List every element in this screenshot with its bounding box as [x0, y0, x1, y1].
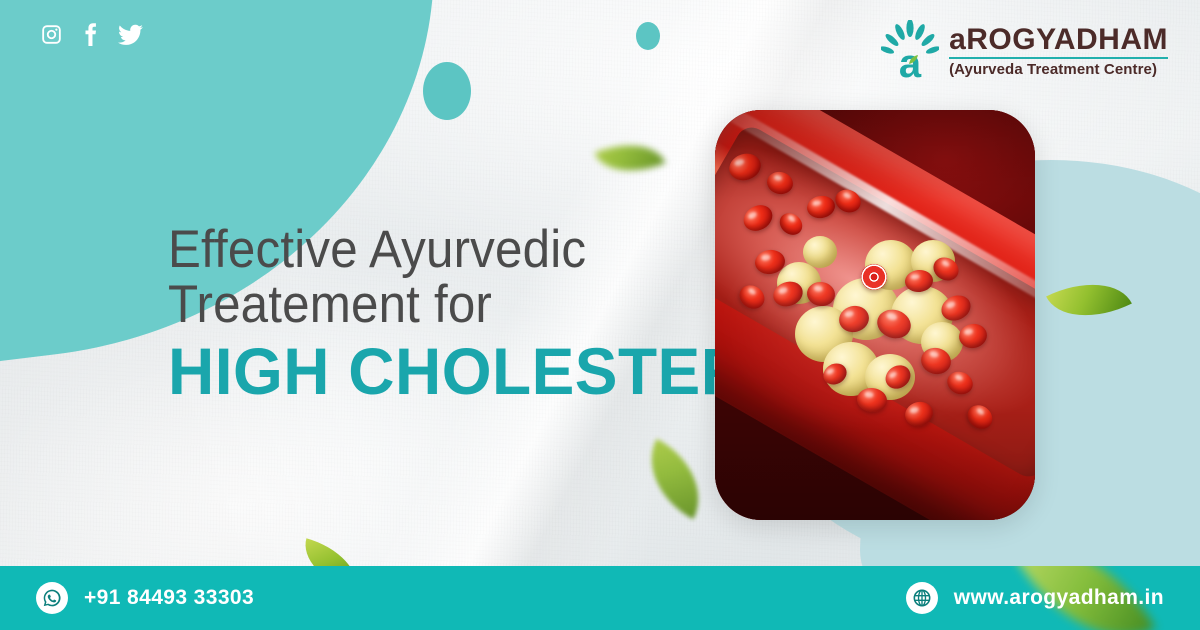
brand-tagline: (Ayurveda Treatment Centre)	[949, 61, 1168, 78]
phone-contact[interactable]: +91 84493 33303	[36, 582, 254, 614]
logo-divider	[949, 57, 1168, 59]
teal-dot-icon	[423, 62, 471, 120]
facebook-icon	[83, 22, 98, 47]
promo-banner: a aROGYADHAM (Ayurveda Treatment Centre)…	[0, 0, 1200, 630]
teal-dot-small-icon	[636, 22, 660, 50]
social-links	[40, 22, 143, 47]
cholesterol-artery-illustration	[715, 110, 1035, 520]
globe-icon	[906, 582, 938, 614]
ayurveda-leaf-tree-a-icon: a	[881, 20, 939, 82]
website-url: www.arogyadham.in	[954, 586, 1164, 610]
brand-name: aROGYADHAM	[949, 24, 1168, 56]
headline-line-2: Treatement for	[168, 277, 810, 332]
instagram-icon	[40, 23, 63, 46]
contact-bar: +91 84493 33303 www.arogyadham.in	[0, 566, 1200, 630]
headline-line-1: Effective Ayurvedic	[168, 222, 810, 277]
brand-logo[interactable]: a aROGYADHAM (Ayurveda Treatment Centre)	[881, 20, 1168, 82]
hero-image-card	[715, 110, 1035, 520]
social-link-twitter[interactable]	[118, 24, 143, 46]
social-link-instagram[interactable]	[40, 23, 63, 46]
phone-number: +91 84493 33303	[84, 586, 254, 610]
whatsapp-icon	[36, 582, 68, 614]
website-contact[interactable]: www.arogyadham.in	[906, 582, 1164, 614]
social-link-facebook[interactable]	[83, 22, 98, 47]
twitter-icon	[118, 24, 143, 46]
